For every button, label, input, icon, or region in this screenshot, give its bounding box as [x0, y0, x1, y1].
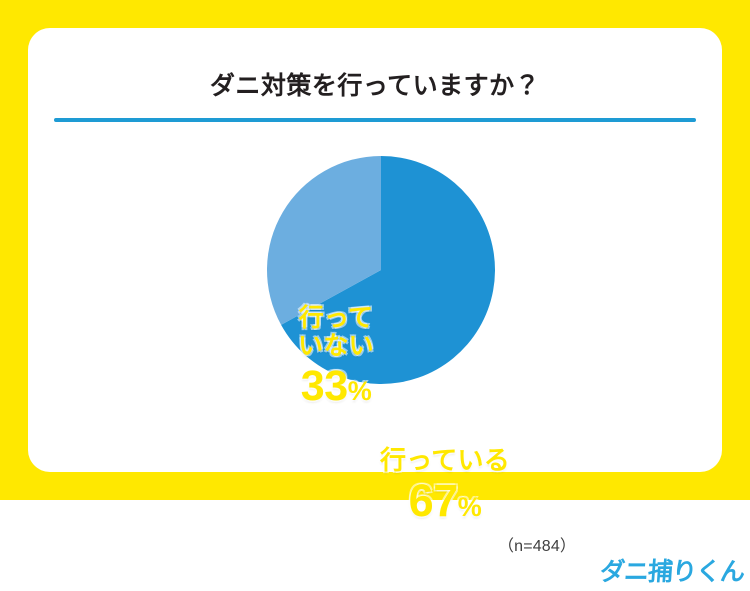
pie-label-doing: 行っている 67% — [345, 446, 545, 527]
pie-chart-area: 行って いない 33% 行っている 67% （n=484） ダニ捕りくん — [28, 128, 722, 472]
sample-size-note: （n=484） — [498, 532, 576, 556]
brand-logo: ダニ捕りくん — [616, 553, 744, 591]
pie-value-doing: 67% — [345, 476, 545, 526]
pie-label-doing-text: 行っている — [345, 446, 545, 475]
brand-logo-text: ダニ捕りくん — [599, 560, 745, 585]
infographic-root: ダニ対策を行っていますか？ 行って いない 33% 行っている 67% — [0, 0, 750, 500]
pie-value-doing-unit: % — [458, 492, 482, 522]
pie-chart-svg — [265, 154, 497, 386]
title-divider — [54, 118, 696, 122]
page-title: ダニ対策を行っていますか？ — [28, 71, 722, 101]
content-card: ダニ対策を行っていますか？ 行って いない 33% 行っている 67% — [28, 28, 722, 472]
pie-value-doing-number: 67 — [409, 475, 458, 526]
pie-chart — [265, 154, 497, 386]
